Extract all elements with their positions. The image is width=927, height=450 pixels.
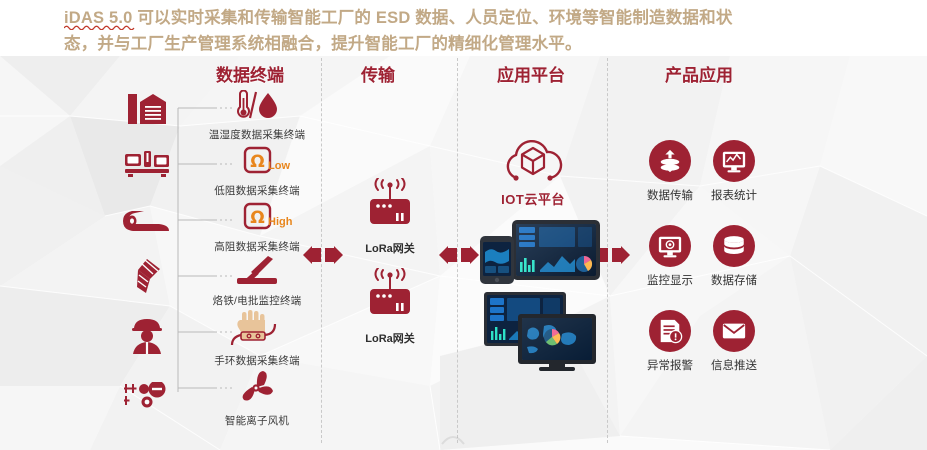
slide-root: iDAS 5.0 可以实时采集和传输智能工厂的 ESD 数据、人员定位、环境等智…: [0, 0, 927, 450]
terminal-label-2: 高阻数据采集终端: [198, 239, 316, 254]
terminal-label-5: 智能离子风机: [198, 413, 316, 428]
column-title-transmission: 传输: [361, 61, 395, 86]
column-title-platform: 应用平台: [497, 61, 565, 86]
ohm-badge-low: Low: [268, 160, 290, 172]
monitor-display-icon: [649, 225, 691, 267]
product-app-label-3: 数据存储: [696, 272, 772, 288]
platform-cloud-label: IOT云平台: [473, 189, 593, 208]
dual-monitor-dashboard-image: [482, 290, 600, 372]
alert-document-icon: [649, 310, 691, 352]
product-app-1[interactable]: 报表统计: [696, 140, 772, 203]
product-app-5[interactable]: 信息推送: [696, 310, 772, 373]
lora-gateway-icon: [359, 268, 421, 324]
terminal-label-3: 烙铁/电批监控终端: [198, 293, 316, 308]
cloud-cube-icon: [497, 136, 569, 186]
svg-text:Ω: Ω: [250, 208, 264, 228]
terminal-item-1: Ω Low 低阻数据采集终端: [198, 146, 316, 198]
bidirectional-arrow-terminals-transmission: [301, 246, 345, 264]
column-title-data-terminals: 数据终端: [216, 61, 284, 86]
drill-bit-icon: [128, 258, 166, 294]
product-app-label-1: 报表统计: [696, 187, 772, 203]
transmission-label-1: LoRa网关: [350, 330, 430, 346]
product-app-label-5: 信息推送: [696, 357, 772, 373]
terminal-label-4: 手环数据采集终端: [198, 353, 316, 368]
transmission-item-1: LoRa网关: [350, 268, 430, 346]
transmission-item-0: LoRa网关: [350, 178, 430, 256]
report-chart-icon: [713, 140, 755, 182]
soldering-iron-icon: [231, 256, 283, 286]
terminal-item-3: 烙铁/电批监控终端: [198, 256, 316, 308]
platform-cloud: IOT云平台: [473, 136, 593, 208]
database-icon: [713, 225, 755, 267]
headline: iDAS 5.0 可以实时采集和传输智能工厂的 ESD 数据、人员定位、环境等智…: [0, 0, 927, 56]
column-title-product-apps: 产品应用: [665, 61, 733, 86]
bottom-marker-icon: [440, 432, 466, 446]
bidirectional-arrow-transmission-platform: [437, 246, 481, 264]
material-roll-icon: [122, 207, 170, 235]
svg-text:Ω: Ω: [250, 152, 264, 172]
spellcheck-squiggle-underline: [64, 24, 138, 30]
ionizer-particles-icon: [124, 382, 170, 408]
headline-line-1: iDAS 5.0 可以实时采集和传输智能工厂的 ESD 数据、人员定位、环境等智…: [64, 4, 864, 28]
ionizing-fan-icon: [235, 370, 279, 406]
terminal-item-4: 手环数据采集终端: [198, 310, 316, 368]
envelope-icon: [713, 310, 755, 352]
tablet-phone-dashboard-image: [478, 218, 602, 284]
terminal-label-1: 低阻数据采集终端: [198, 183, 316, 198]
lora-gateway-icon: [359, 178, 421, 234]
product-app-3[interactable]: 数据存储: [696, 225, 772, 288]
transmission-label-0: LoRa网关: [350, 240, 430, 256]
terminal-item-0: 温湿度数据采集终端: [198, 90, 316, 142]
terminal-item-5: 智能离子风机: [198, 370, 316, 428]
machine-icon: [124, 150, 170, 178]
ohm-badge-high: High: [268, 216, 292, 228]
factory-icon: [126, 92, 168, 126]
worker-icon: [128, 316, 166, 354]
terminal-label-0: 温湿度数据采集终端: [198, 127, 316, 142]
thermometer-humidity-icon: [228, 90, 286, 120]
data-transfer-icon: [649, 140, 691, 182]
wristband-hand-icon: [228, 310, 286, 346]
terminal-item-2: Ω High 高阻数据采集终端: [198, 202, 316, 254]
headline-line-2: 态，并与工厂生产管理系统相融合，提升智能工厂的精细化管理水平。: [64, 30, 864, 54]
